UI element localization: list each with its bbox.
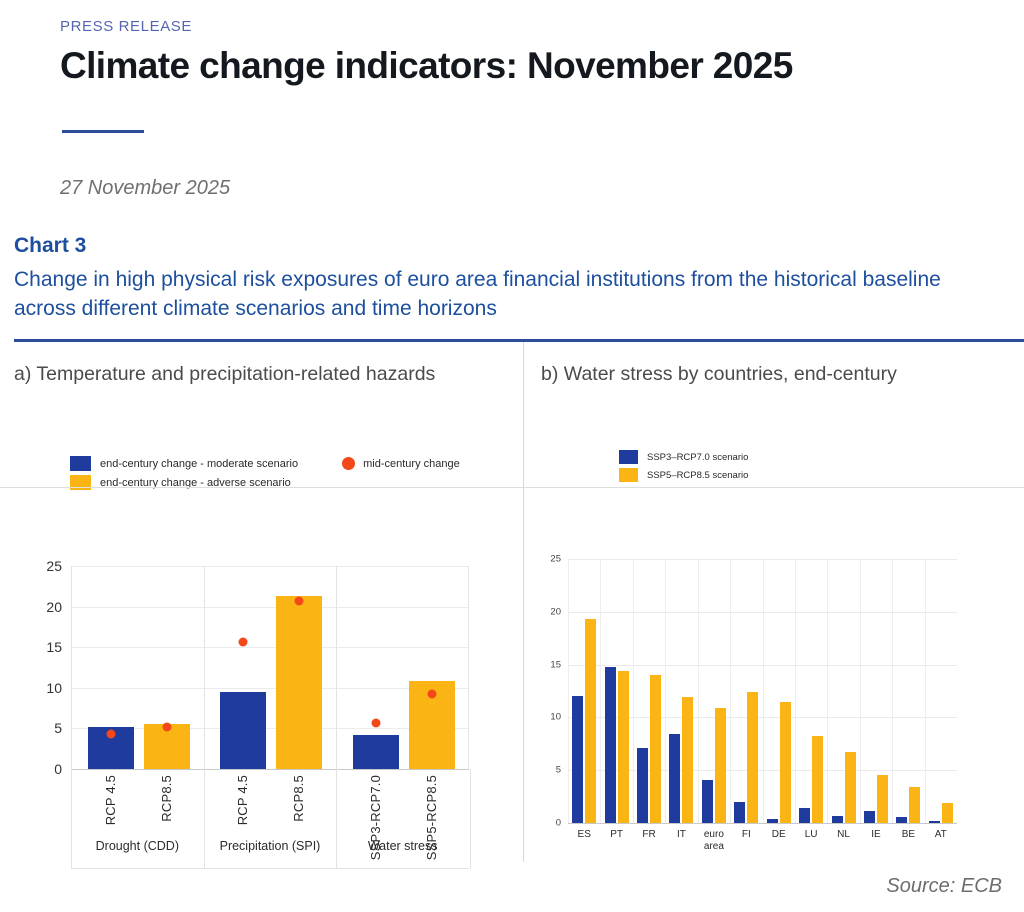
mid-century-change-dot (239, 637, 248, 646)
legend-row: end-century change - adverse scenario (70, 475, 523, 494)
y-axis-tick-label: 10 (550, 712, 568, 723)
y-axis-tick-label: 20 (46, 599, 71, 615)
legend-label: SSP3–RCP7.0 scenario (647, 452, 748, 463)
x-group-box (336, 769, 471, 869)
x-group-label: Drought (CDD) (71, 839, 204, 853)
y-axis-tick-label: 5 (54, 720, 71, 736)
bar-ssp5 (650, 675, 661, 823)
bar-ssp5 (682, 697, 693, 823)
page-title: Climate change indicators: November 2025 (60, 45, 1024, 86)
panel-a-plot: 0510152025 (71, 566, 469, 769)
vertical-gridline (665, 559, 666, 823)
x-category-label: ES (578, 829, 591, 841)
bar-ssp3 (864, 811, 875, 823)
bar (276, 596, 322, 769)
x-category-label: RCP 4.5 (235, 775, 250, 825)
legend-item-mid-century[interactable]: mid-century change (342, 457, 460, 470)
y-axis-tick-label: 25 (46, 558, 71, 574)
bar-ssp5 (845, 752, 856, 823)
y-axis-tick-label: 5 (556, 765, 568, 776)
bar-ssp5 (909, 787, 920, 823)
mid-century-change-dot (372, 718, 381, 727)
legend-item-ssp3[interactable]: SSP3–RCP7.0 scenario (619, 450, 748, 464)
bar-ssp5 (942, 803, 953, 823)
publication-date: 27 November 2025 (60, 177, 1024, 200)
x-group-label: Water stress (336, 839, 469, 853)
bar-ssp5 (618, 671, 629, 823)
group-separator (71, 566, 72, 769)
x-category-label: RCP 4.5 (103, 775, 118, 825)
panel-a-heading: a) Temperature and precipitation-related… (14, 342, 494, 438)
mid-century-change-dot (295, 596, 304, 605)
page-header: PRESS RELEASE Climate change indicators:… (0, 0, 1024, 200)
bar-ssp3 (572, 696, 583, 823)
bar-ssp5 (877, 775, 888, 823)
x-group-box (71, 769, 205, 869)
y-axis-tick-label: 25 (550, 554, 568, 565)
vertical-gridline (568, 559, 569, 823)
chart-heading-block: Chart 3 Change in high physical risk exp… (0, 200, 1024, 342)
blue-swatch-icon (70, 456, 91, 471)
bar-ssp3 (799, 808, 810, 823)
bar-ssp5 (812, 736, 823, 823)
panel-vertical-divider (523, 342, 524, 862)
y-axis-tick-label: 15 (46, 639, 71, 655)
x-category-label: euroarea (704, 829, 724, 852)
x-category-label: NL (837, 829, 850, 841)
panel-a-legend: end-century change - moderate scenario m… (14, 438, 523, 494)
bar-ssp5 (780, 702, 791, 823)
accent-rule (62, 130, 144, 133)
vertical-gridline (633, 559, 634, 823)
x-category-label: SSP5-RCP8.5 (424, 775, 439, 860)
panel-b-xaxis: ESPTFRITeuroareaFIDELUNLIEBEAT (568, 823, 957, 863)
vertical-gridline (827, 559, 828, 823)
legend-item-moderate[interactable]: end-century change - moderate scenario (70, 456, 298, 471)
group-separator (204, 566, 205, 769)
mid-century-change-dot (427, 690, 436, 699)
x-category-label: IT (677, 829, 686, 841)
vertical-gridline (925, 559, 926, 823)
x-category-label: FR (642, 829, 655, 841)
group-separator (336, 566, 337, 769)
y-axis-tick-label: 15 (550, 659, 568, 670)
bar (353, 735, 399, 769)
gridline (71, 607, 469, 608)
vertical-gridline (795, 559, 796, 823)
bar-ssp3 (605, 667, 616, 823)
bar-ssp3 (734, 802, 745, 823)
panel-a: a) Temperature and precipitation-related… (0, 342, 523, 494)
x-category-label: BE (902, 829, 915, 841)
legend-row: end-century change - moderate scenario m… (70, 456, 476, 475)
panel-a-xaxis: Drought (CDD)RCP 4.5RCP8.5Precipitation … (71, 769, 469, 869)
x-category-label: RCP8.5 (291, 775, 306, 822)
legend-label: end-century change - moderate scenario (100, 458, 298, 470)
legend-row: SSP5–RCP8.5 scenario (619, 468, 1024, 486)
vertical-gridline (730, 559, 731, 823)
legend-item-ssp5[interactable]: SSP5–RCP8.5 scenario (619, 468, 748, 482)
bar-ssp5 (585, 619, 596, 823)
orange-dot-icon (342, 457, 355, 470)
mid-century-change-dot (162, 722, 171, 731)
bar (220, 692, 266, 769)
group-separator (468, 566, 469, 769)
bar-ssp3 (669, 734, 680, 823)
x-category-label: RCP8.5 (159, 775, 174, 822)
mid-century-change-dot (106, 730, 115, 739)
y-axis-tick-label: 20 (550, 606, 568, 617)
x-category-label: AT (935, 829, 947, 841)
x-category-label: PT (610, 829, 623, 841)
panel-horizontal-divider (0, 487, 1024, 488)
yellow-swatch-icon (619, 468, 638, 482)
source-note: Source: ECB (886, 875, 1002, 898)
vertical-gridline (698, 559, 699, 823)
x-category-label: LU (805, 829, 818, 841)
panel-b-plot: 0510152025 (568, 559, 957, 823)
x-category-label: IE (871, 829, 880, 841)
y-axis-tick-label: 0 (54, 761, 71, 777)
chart-title: Change in high physical risk exposures o… (14, 266, 999, 323)
x-group-box (204, 769, 338, 869)
y-axis-tick-label: 0 (556, 818, 568, 829)
legend-row: SSP3–RCP7.0 scenario (619, 450, 1024, 468)
x-category-label: DE (772, 829, 786, 841)
chart-number: Chart 3 (14, 234, 1024, 258)
legend-label: mid-century change (363, 458, 460, 470)
panels-container: a) Temperature and precipitation-related… (0, 342, 1024, 494)
y-axis-tick-label: 10 (46, 680, 71, 696)
bar-ssp5 (747, 692, 758, 823)
press-release-kicker: PRESS RELEASE (60, 18, 1024, 35)
bar-ssp3 (832, 816, 843, 823)
x-group-label: Precipitation (SPI) (204, 839, 337, 853)
vertical-gridline (860, 559, 861, 823)
legend-label: SSP5–RCP8.5 scenario (647, 470, 748, 481)
gridline (71, 647, 469, 648)
panel-b-legend: SSP3–RCP7.0 scenario SSP5–RCP8.5 scenari… (541, 438, 1024, 486)
vertical-gridline (600, 559, 601, 823)
bar-ssp3 (637, 748, 648, 823)
vertical-gridline (892, 559, 893, 823)
vertical-gridline (763, 559, 764, 823)
gridline (71, 566, 469, 567)
blue-swatch-icon (619, 450, 638, 464)
bar-ssp3 (702, 780, 713, 823)
bar-ssp5 (715, 708, 726, 823)
x-category-label: SSP3-RCP7.0 (368, 775, 383, 860)
panel-b-heading: b) Water stress by countries, end-centur… (541, 342, 1021, 438)
panel-b: b) Water stress by countries, end-centur… (523, 342, 1024, 494)
x-category-label: FI (742, 829, 751, 841)
